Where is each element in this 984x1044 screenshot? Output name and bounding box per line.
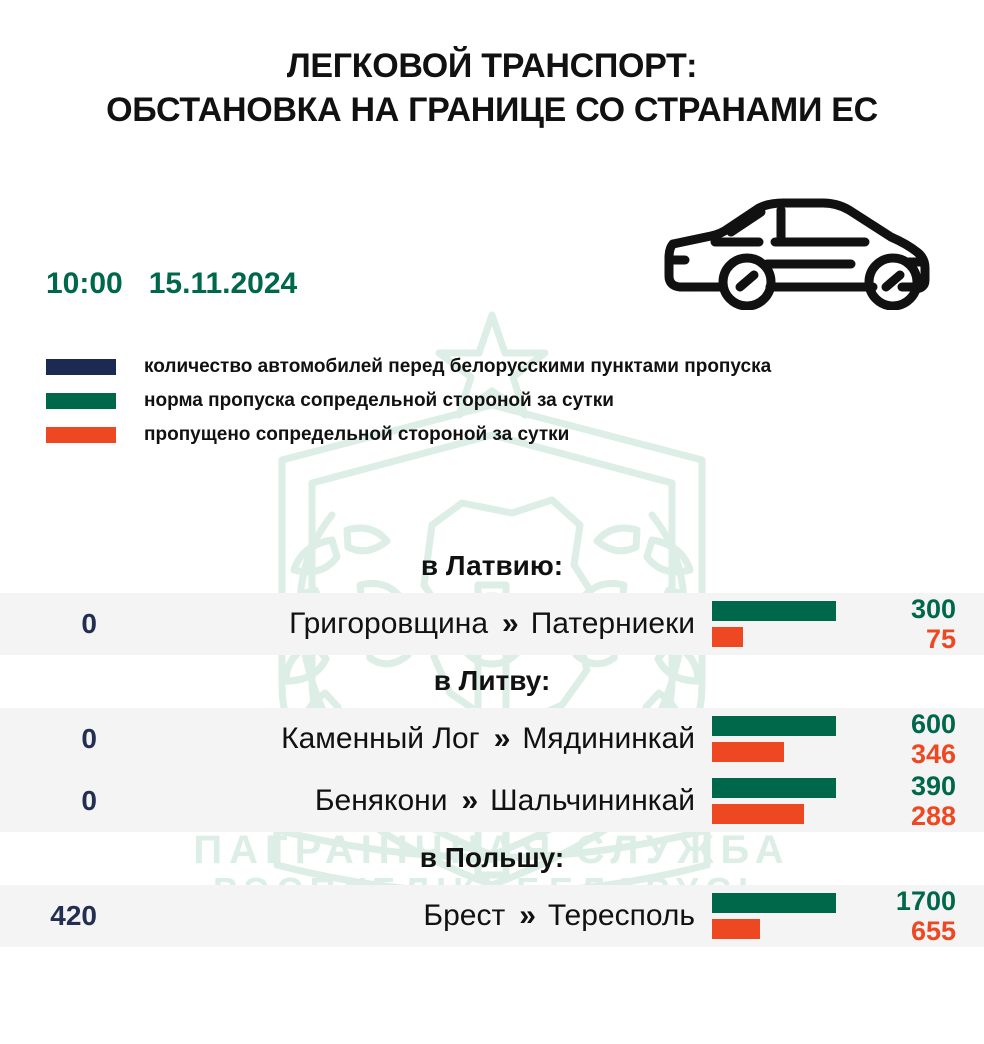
bar-norm <box>712 601 836 621</box>
bar-group <box>712 885 836 947</box>
checkpoint-from: Каменный Лог <box>281 722 480 756</box>
value-norm: 390 <box>846 771 956 801</box>
timestamp-date: 15.11.2024 <box>149 267 298 301</box>
queue-count: 0 <box>0 593 97 655</box>
queue-count: 0 <box>0 708 97 770</box>
checkpoint-to: Шальчининкай <box>490 784 695 818</box>
double-chevron-icon: » <box>461 786 476 816</box>
bar-passed <box>712 804 804 824</box>
route: Бенякони»Шальчининкай <box>110 770 695 832</box>
checkpoint-from: Бенякони <box>315 784 448 818</box>
route: Григоровщина»Патерниеки <box>110 593 695 655</box>
bar-group <box>712 708 836 770</box>
checkpoint-from: Григоровщина <box>289 607 488 641</box>
double-chevron-icon: » <box>502 609 517 639</box>
section-heading: в Латвию: <box>0 540 984 593</box>
bar-group <box>712 593 836 655</box>
checkpoint-to: Мядининкай <box>522 722 695 756</box>
bar-norm <box>712 778 836 798</box>
checkpoint-from: Брест <box>423 899 505 933</box>
legend: количество автомобилей перед белорусским… <box>46 356 771 446</box>
route: Каменный Лог»Мядининкай <box>110 708 695 770</box>
page-title: ЛЕГКОВОЙ ТРАНСПОРТ: ОБСТАНОВКА НА ГРАНИЦ… <box>0 44 984 132</box>
value-norm: 300 <box>846 594 956 624</box>
legend-swatch-norm <box>46 393 116 409</box>
value-passed: 346 <box>846 739 956 769</box>
checkpoint-to: Тересполь <box>548 899 695 933</box>
checkpoint-to: Патерниеки <box>531 607 695 641</box>
value-group: 600346 <box>846 708 956 770</box>
legend-item-queue: количество автомобилей перед белорусским… <box>46 356 771 378</box>
table-row: 0Григоровщина»Патерниеки30075 <box>0 593 984 655</box>
double-chevron-icon: » <box>494 724 509 754</box>
table-row: 0Каменный Лог»Мядининкай600346 <box>0 708 984 770</box>
legend-label-queue: количество автомобилей перед белорусским… <box>144 356 771 378</box>
bar-group <box>712 770 836 832</box>
route: Брест»Тересполь <box>110 885 695 947</box>
value-group: 30075 <box>846 593 956 655</box>
table-row: 0Бенякони»Шальчининкай390288 <box>0 770 984 832</box>
legend-swatch-queue <box>46 359 116 375</box>
bar-norm <box>712 893 836 913</box>
legend-item-passed: пропущено сопредельной стороной за сутки <box>46 424 771 446</box>
table-row: 420Брест»Тересполь1700655 <box>0 885 984 947</box>
section-heading: в Польшу: <box>0 832 984 885</box>
double-chevron-icon: » <box>519 901 534 931</box>
value-passed: 288 <box>846 801 956 831</box>
value-norm: 1700 <box>846 886 956 916</box>
legend-label-norm: норма пропуска сопредельной стороной за … <box>144 390 614 412</box>
value-group: 390288 <box>846 770 956 832</box>
timestamp: 10:00 15.11.2024 <box>46 267 297 301</box>
queue-count: 420 <box>0 885 97 947</box>
page-title-line-1: ЛЕГКОВОЙ ТРАНСПОРТ: <box>0 44 984 88</box>
queue-count: 0 <box>0 770 97 832</box>
car-icon <box>655 192 935 310</box>
bar-passed <box>712 742 784 762</box>
value-group: 1700655 <box>846 885 956 947</box>
legend-label-passed: пропущено сопредельной стороной за сутки <box>144 424 569 446</box>
timestamp-time: 10:00 <box>46 267 123 301</box>
bar-norm <box>712 716 836 736</box>
section-heading: в Литву: <box>0 655 984 708</box>
bar-passed <box>712 627 743 647</box>
value-passed: 655 <box>846 916 956 946</box>
value-norm: 600 <box>846 709 956 739</box>
border-crossing-table: в Латвию:0Григоровщина»Патерниеки30075в … <box>0 540 984 947</box>
page-title-line-2: ОБСТАНОВКА НА ГРАНИЦЕ СО СТРАНАМИ ЕС <box>0 88 984 132</box>
bar-passed <box>712 919 760 939</box>
legend-item-norm: норма пропуска сопредельной стороной за … <box>46 390 771 412</box>
legend-swatch-passed <box>46 427 116 443</box>
value-passed: 75 <box>846 624 956 654</box>
